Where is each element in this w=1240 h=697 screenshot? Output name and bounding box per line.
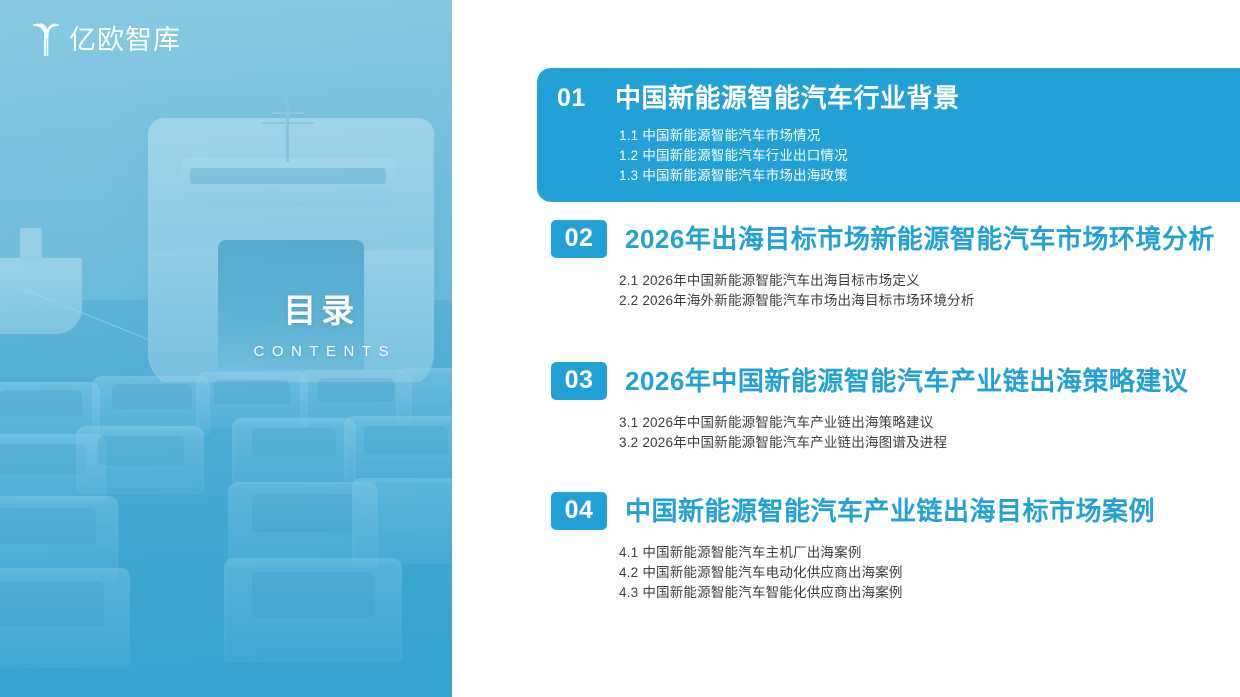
toc-subitem[interactable]: 4.2 中国新能源智能汽车电动化供应商出海案例 bbox=[619, 563, 1240, 583]
toc-section-04-subitems: 4.1 中国新能源智能汽车主机厂出海案例 4.2 中国新能源智能汽车电动化供应商… bbox=[537, 543, 1240, 603]
hero-image-panel: 亿欧智库 目录 CONTENTS bbox=[0, 0, 452, 697]
toc-section-03-number-badge: 03 bbox=[551, 362, 607, 400]
contents-title-block: 目录 CONTENTS bbox=[247, 292, 397, 360]
toc-section-01-number: 01 bbox=[537, 82, 609, 115]
toc-subitem[interactable]: 2.2 2026年海外新能源智能汽车市场出海目标市场环境分析 bbox=[619, 291, 1240, 311]
brand-logo: 亿欧智库 bbox=[30, 22, 181, 58]
toc-section-03-subitems: 3.1 2026年中国新能源智能汽车产业链出海策略建议 3.2 2026年中国新… bbox=[537, 413, 1240, 453]
toc-section-04-title: 中国新能源智能汽车产业链出海目标市场案例 bbox=[625, 497, 1155, 526]
toc-section-04-number-badge: 04 bbox=[551, 492, 607, 530]
toc-section-02-number-badge: 02 bbox=[551, 220, 607, 258]
toc-section-01-panel[interactable]: 01 中国新能源智能汽车行业背景 1.1 中国新能源智能汽车市场情况 1.2 中… bbox=[537, 68, 1240, 202]
toc-section-01-head: 01 中国新能源智能汽车行业背景 bbox=[537, 82, 1240, 115]
toc-section-04[interactable]: 04 中国新能源智能汽车产业链出海目标市场案例 4.1 中国新能源智能汽车主机厂… bbox=[452, 478, 1240, 619]
toc-section-01[interactable]: 01 中国新能源智能汽车行业背景 1.1 中国新能源智能汽车市场情况 1.2 中… bbox=[452, 68, 1240, 202]
toc-section-02-panel[interactable]: 02 2026年出海目标市场新能源智能汽车市场环境分析 2.1 2026年中国新… bbox=[537, 206, 1240, 327]
toc-subitem[interactable]: 3.1 2026年中国新能源智能汽车产业链出海策略建议 bbox=[619, 413, 1240, 433]
toc-subitem[interactable]: 4.3 中国新能源智能汽车智能化供应商出海案例 bbox=[619, 583, 1240, 603]
toc-section-04-head: 04 中国新能源智能汽车产业链出海目标市场案例 bbox=[537, 492, 1240, 530]
table-of-contents: 01 中国新能源智能汽车行业背景 1.1 中国新能源智能汽车市场情况 1.2 中… bbox=[452, 0, 1240, 697]
toc-section-02-title: 2026年出海目标市场新能源智能汽车市场环境分析 bbox=[625, 225, 1215, 254]
toc-section-03-panel[interactable]: 03 2026年中国新能源智能汽车产业链出海策略建议 3.1 2026年中国新能… bbox=[537, 348, 1240, 469]
brand-logo-text: 亿欧智库 bbox=[69, 27, 181, 54]
toc-section-03-head: 03 2026年中国新能源智能汽车产业链出海策略建议 bbox=[537, 362, 1240, 400]
toc-subitem[interactable]: 2.1 2026年中国新能源智能汽车出海目标市场定义 bbox=[619, 271, 1240, 291]
toc-section-04-panel[interactable]: 04 中国新能源智能汽车产业链出海目标市场案例 4.1 中国新能源智能汽车主机厂… bbox=[537, 478, 1240, 619]
toc-subitem[interactable]: 1.2 中国新能源智能汽车行业出口情况 bbox=[619, 146, 1240, 166]
contents-title-en: CONTENTS bbox=[247, 343, 397, 360]
toc-subitem[interactable]: 4.1 中国新能源智能汽车主机厂出海案例 bbox=[619, 543, 1240, 563]
toc-section-03[interactable]: 03 2026年中国新能源智能汽车产业链出海策略建议 3.1 2026年中国新能… bbox=[452, 348, 1240, 469]
toc-section-01-title: 中国新能源智能汽车行业背景 bbox=[615, 84, 960, 113]
toc-subitem[interactable]: 1.1 中国新能源智能汽车市场情况 bbox=[619, 126, 1240, 146]
slide-root: 亿欧智库 目录 CONTENTS 01 中国新能源智能汽车行业背景 1.1 中国… bbox=[0, 0, 1240, 697]
toc-section-02-subitems: 2.1 2026年中国新能源智能汽车出海目标市场定义 2.2 2026年海外新能… bbox=[537, 271, 1240, 311]
contents-title-cn: 目录 bbox=[247, 292, 397, 330]
yiou-leaf-logo-icon bbox=[30, 22, 62, 58]
toc-subitem[interactable]: 3.2 2026年中国新能源智能汽车产业链出海图谱及进程 bbox=[619, 433, 1240, 453]
toc-section-03-title: 2026年中国新能源智能汽车产业链出海策略建议 bbox=[625, 367, 1188, 396]
toc-section-02-head: 02 2026年出海目标市场新能源智能汽车市场环境分析 bbox=[537, 220, 1240, 258]
toc-section-02[interactable]: 02 2026年出海目标市场新能源智能汽车市场环境分析 2.1 2026年中国新… bbox=[452, 206, 1240, 327]
toc-subitem[interactable]: 1.3 中国新能源智能汽车市场出海政策 bbox=[619, 166, 1240, 186]
toc-section-01-subitems: 1.1 中国新能源智能汽车市场情况 1.2 中国新能源智能汽车行业出口情况 1.… bbox=[537, 126, 1240, 186]
